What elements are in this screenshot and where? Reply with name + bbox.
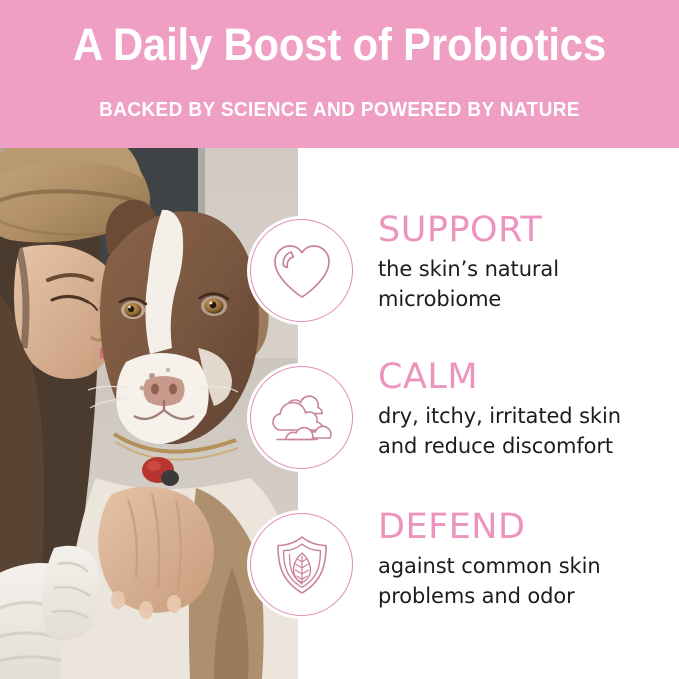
header-subtitle: BACKED BY SCIENCE AND POWERED BY NATURE	[17, 97, 662, 123]
feature-defend-heading: DEFEND	[378, 507, 525, 547]
body-line: microbiome	[378, 284, 678, 314]
icon-badge-support	[250, 219, 353, 322]
icon-badge-defend	[250, 513, 353, 616]
clouds-icon	[267, 390, 337, 446]
icon-badge-calm	[250, 366, 353, 469]
feature-calm-heading: CALM	[378, 357, 478, 397]
shield-leaf-icon	[271, 532, 333, 598]
heart-icon	[269, 240, 335, 302]
body-line: dry, itchy, irritated skin	[378, 401, 678, 431]
feature-list: SUPPORT the skin’s natural microbiome CA…	[298, 148, 679, 679]
header-banner: A Daily Boost of Probiotics BACKED BY SC…	[0, 0, 679, 148]
body-line: the skin’s natural	[378, 254, 678, 284]
page-title: A Daily Boost of Probiotics	[24, 17, 655, 73]
feature-support-heading: SUPPORT	[378, 210, 542, 250]
body-line: problems and odor	[378, 581, 678, 611]
feature-calm-body: dry, itchy, irritated skin and reduce di…	[378, 401, 678, 461]
product-feature-graphic: A Daily Boost of Probiotics BACKED BY SC…	[0, 0, 679, 679]
feature-defend-body: against common skin problems and odor	[378, 551, 678, 611]
body-line: against common skin	[378, 551, 678, 581]
feature-support-body: the skin’s natural microbiome	[378, 254, 678, 314]
body-line: and reduce discomfort	[378, 431, 678, 461]
